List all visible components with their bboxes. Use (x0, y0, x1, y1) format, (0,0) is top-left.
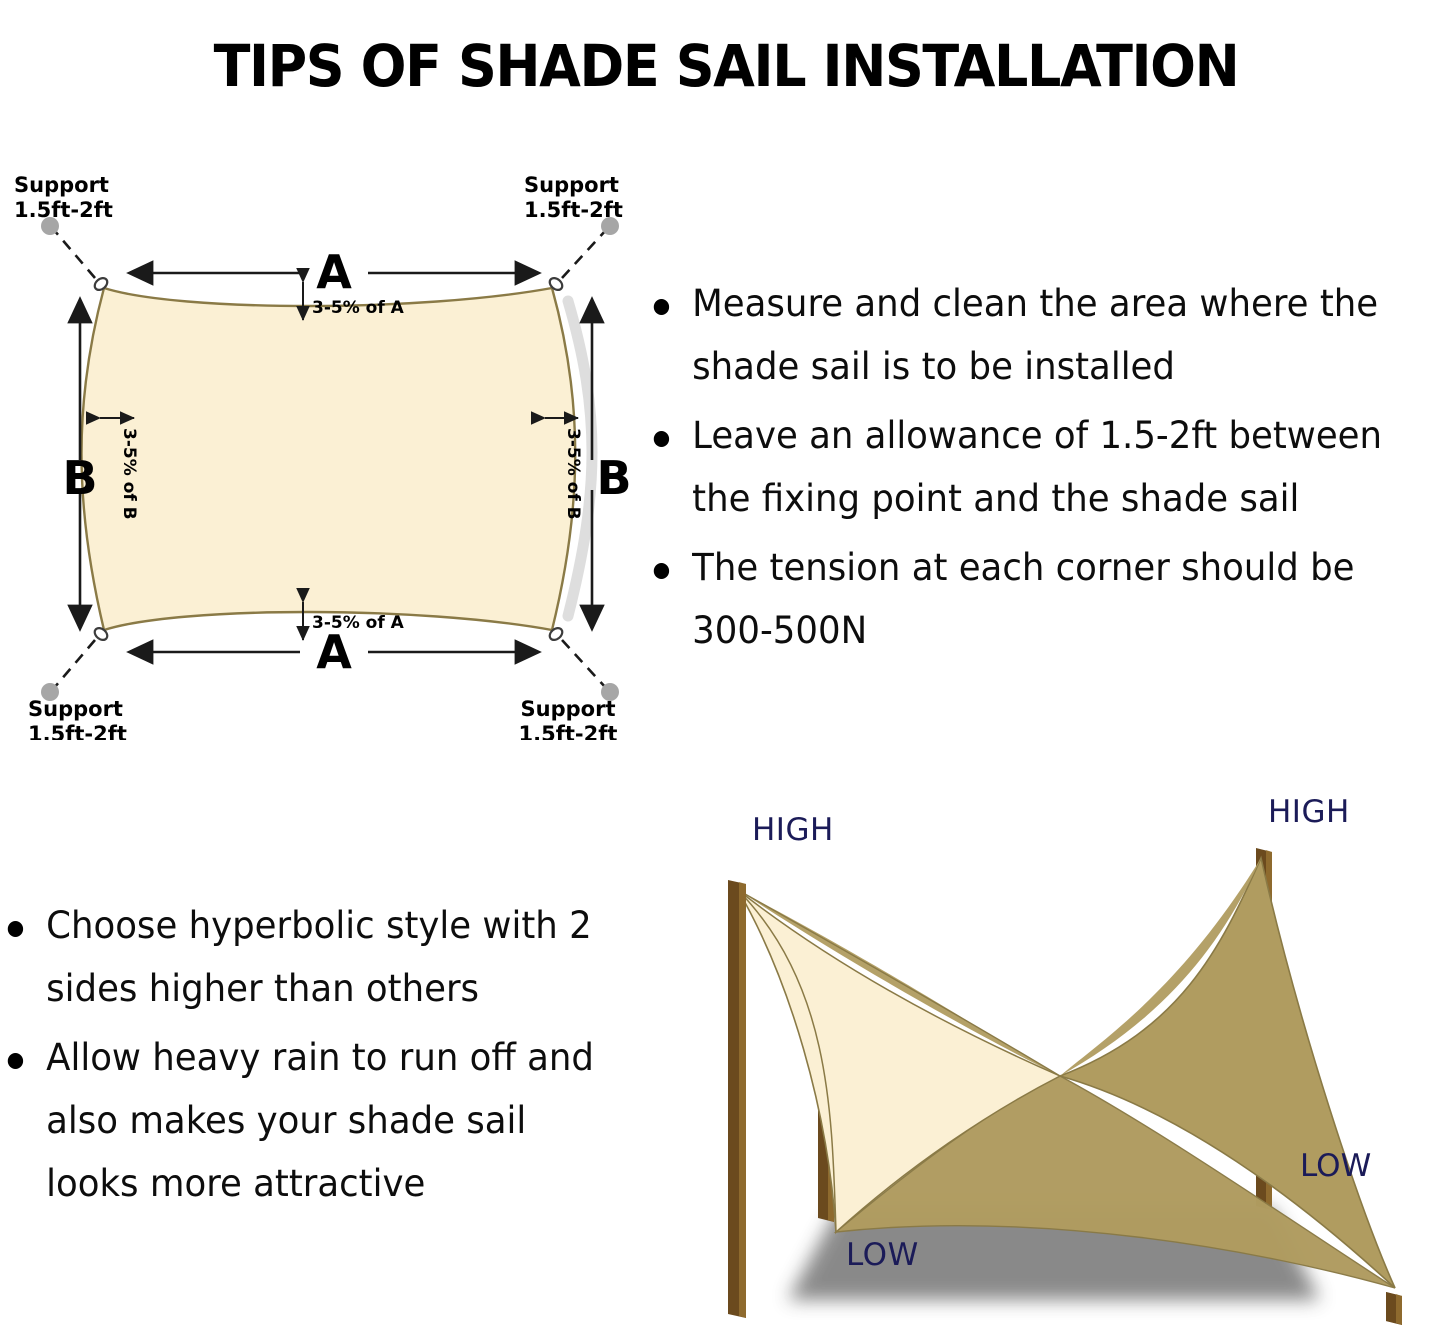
tolerance-label-B-right: 3-5% of B (563, 428, 583, 520)
label-high-left: HIGH (752, 812, 834, 848)
support-label-top-left-line1: Support (14, 173, 109, 197)
label-low-left: LOW (846, 1237, 919, 1273)
tolerance-label-B-left: 3-5% of B (119, 428, 139, 520)
dimension-label-B-left: B (62, 451, 97, 505)
shade-sail-shape (82, 288, 576, 630)
dimension-label-B-right: B (596, 451, 631, 505)
support-label-bottom-right-line2: 1.5ft-2ft (519, 722, 618, 740)
post-low-right (1386, 1292, 1402, 1325)
installation-tips-list: Measure and clean the area where the sha… (648, 272, 1452, 668)
list-item: Choose hyperbolic style with 2 sides hig… (2, 894, 616, 1020)
label-low-right-overlay: LOW (1300, 1148, 1371, 1184)
post-high-left (728, 880, 746, 1318)
tolerance-label-A-top: 3-5% of A (312, 298, 405, 318)
dimension-label-A-bottom: A (316, 625, 352, 679)
dimension-label-A-top: A (316, 245, 352, 299)
support-label-bottom-right-line1: Support (521, 697, 616, 721)
tolerance-label-A-bottom: 3-5% of A (312, 613, 405, 633)
list-item: Allow heavy rain to run off and also mak… (2, 1026, 616, 1215)
list-item: The tension at each corner should be 300… (648, 536, 1428, 662)
label-high-right: HIGH (1268, 794, 1350, 830)
label-low-right-text: LOW (1300, 1148, 1371, 1184)
list-item: Leave an allowance of 1.5-2ft between th… (648, 404, 1428, 530)
support-label-top-right-line1: Support (524, 173, 619, 197)
page-title: TIPS OF SHADE SAIL INSTALLATION (51, 33, 1401, 99)
support-label-bottom-left-line2: 1.5ft-2ft (28, 722, 127, 740)
support-label-top-left-line2: 1.5ft-2ft (14, 198, 113, 222)
support-label-bottom-left-line1: Support (28, 697, 123, 721)
flat-sail-dimension-diagram: A 3-5% of A A 3-5% of A B 3-5% of B B (0, 160, 660, 740)
support-label-top-right-line2: 1.5ft-2ft (524, 198, 623, 222)
hyperbolic-sail-illustration: HIGH HIGH LOW LOW (660, 780, 1452, 1325)
hyperbolic-style-tips-list: Choose hyperbolic style with 2 sides hig… (2, 894, 642, 1221)
list-item: Measure and clean the area where the sha… (648, 272, 1428, 398)
